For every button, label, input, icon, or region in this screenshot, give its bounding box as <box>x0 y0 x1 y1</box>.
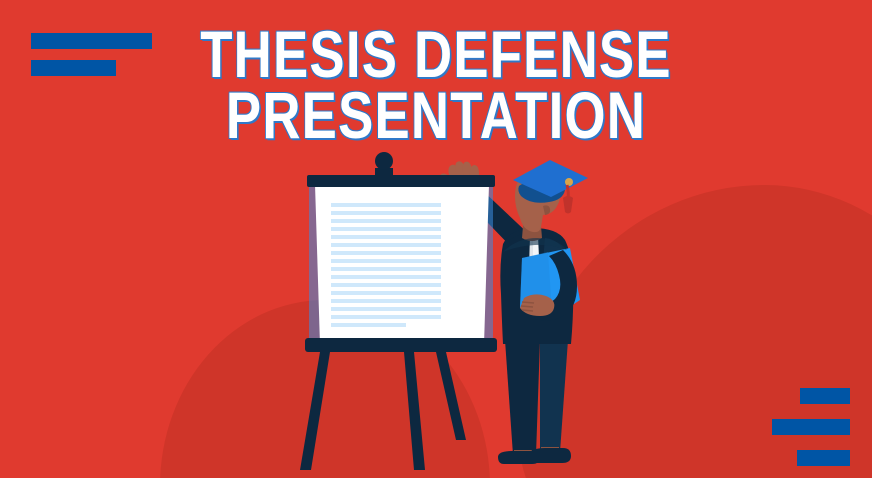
easel-legs <box>300 352 466 470</box>
easel-top-bar <box>307 175 495 187</box>
easel-paper <box>315 184 489 345</box>
title-line-2: PRESENTATION <box>87 85 785 146</box>
presentation-slide: THESIS DEFENSE PRESENTATION <box>0 0 872 478</box>
slide-title: THESIS DEFENSE PRESENTATION <box>0 24 872 145</box>
person-legs <box>498 340 571 464</box>
easel-bottom-bar <box>305 338 497 352</box>
easel-board <box>305 152 497 352</box>
tassel-strand <box>563 196 573 214</box>
title-line-1: THESIS DEFENSE <box>87 24 785 85</box>
tassel-button <box>565 178 573 186</box>
easel-top-knob <box>375 152 393 170</box>
person-body <box>498 160 588 464</box>
right-shoe <box>527 448 571 463</box>
